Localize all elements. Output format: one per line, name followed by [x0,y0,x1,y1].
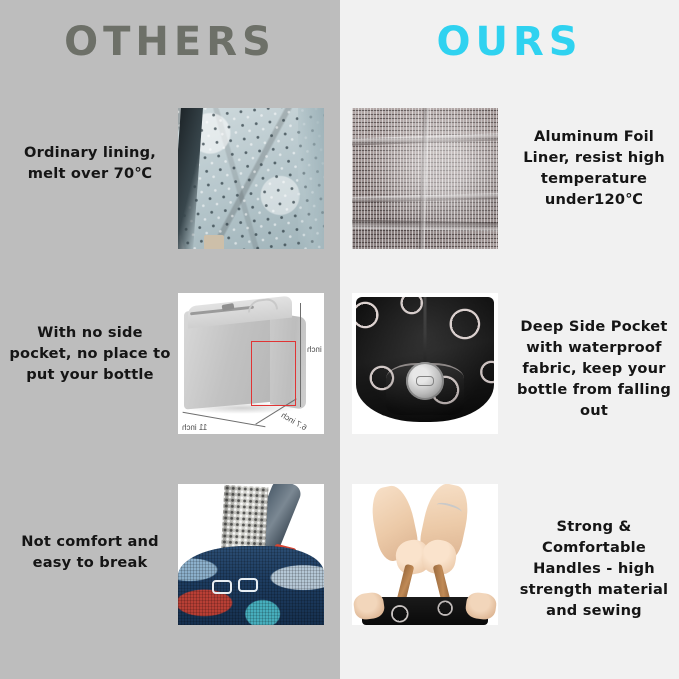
dimension-line-height [300,303,301,407]
ordinary-quilted-lining-photo [178,108,324,249]
gray-bag-dimensions-photo: inch 11 inch 6.7 inch [178,293,324,434]
no-side-pocket-highlight-box [251,341,296,406]
others-heading: OTHERS [0,16,340,68]
row-2-ours-caption: Deep Side Pocket with waterproof fabric,… [512,316,676,421]
black-script-pattern-bag [356,297,494,422]
navy-bag-webbing-strap-photo [178,484,324,625]
ours-heading: OURS [340,16,679,68]
dimension-label-height: inch [307,345,322,354]
aluminum-foil-liner-photo [352,108,498,249]
hands-gripping-leather-handles-photo [352,484,498,625]
row-1-ours-caption: Aluminum Foil Liner, resist high tempera… [512,126,676,210]
row-1-others-caption: Ordinary lining, melt over 70℃ [6,142,174,184]
comparison-infographic: OTHERS OURS Ordinary lining, melt over 7… [0,0,679,679]
foil-highlight [352,108,498,249]
lining-fabric-tag [204,235,224,249]
dimension-label-width: 11 inch [182,423,207,432]
bag-highlight [356,297,494,422]
row-2-others-caption: With no side pocket, no place to put you… [6,322,174,385]
strap-stitch-right [238,578,258,592]
lining-right-fold [298,108,324,249]
black-bag-side-pocket-can-photo [352,293,498,434]
row-3-ours-caption: Strong & Comfortable Handles - high stre… [512,516,676,621]
row-3-others-caption: Not comfort and easy to break [6,531,174,573]
strap-stitch-left [212,580,232,594]
